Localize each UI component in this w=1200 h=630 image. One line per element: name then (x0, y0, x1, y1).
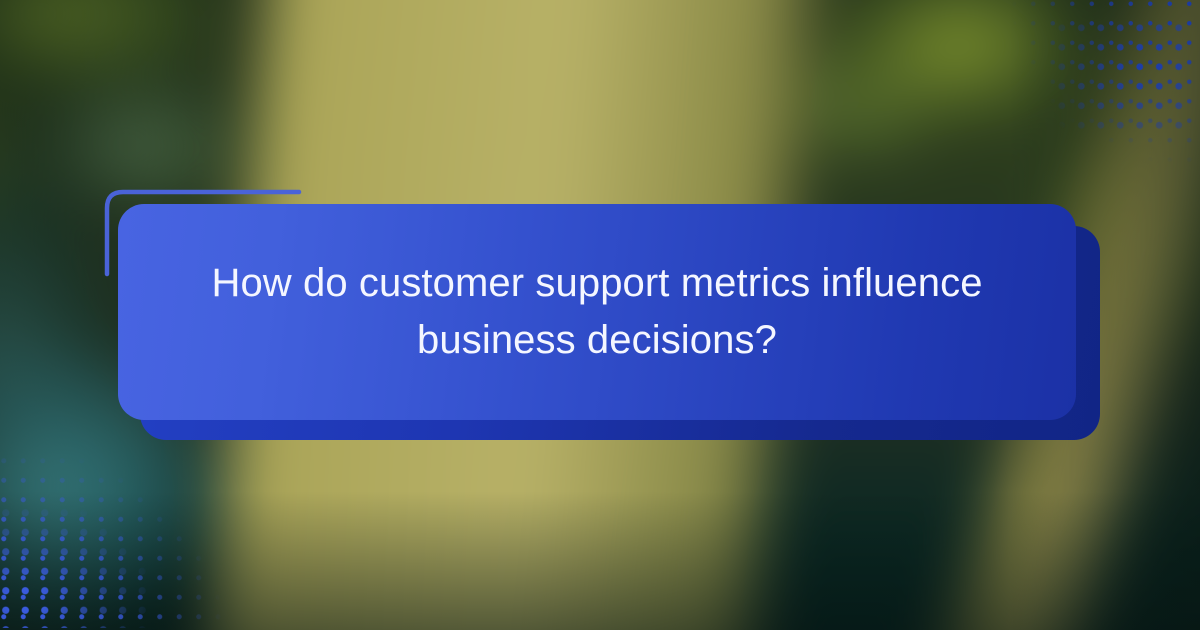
poster-canvas: How do customer support metrics influenc… (0, 0, 1200, 630)
question-title: How do customer support metrics influenc… (175, 255, 1018, 369)
question-card: How do customer support metrics influenc… (118, 204, 1076, 420)
